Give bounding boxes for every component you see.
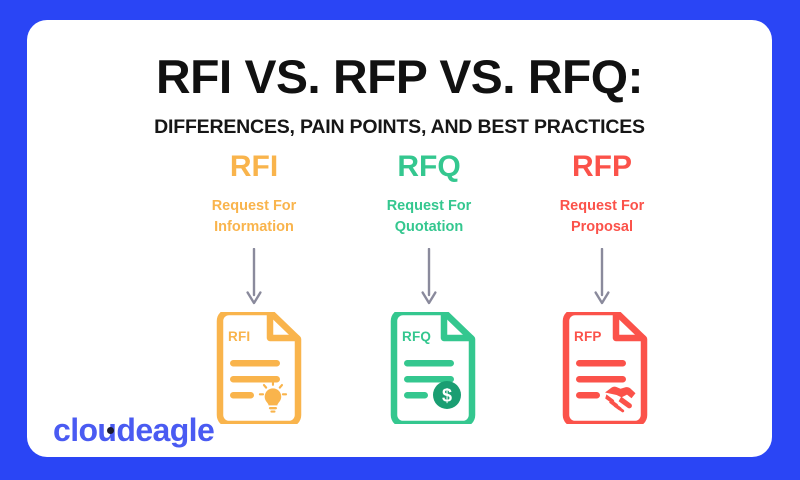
- svg-text:$: $: [442, 386, 452, 406]
- column-rfp-expansion-line1: Request For: [507, 196, 697, 217]
- column-rfq: RFQ Request For Quotation: [334, 152, 524, 237]
- white-content-card: RFI VS. RFP VS. RFQ: DIFFERENCES, PAIN P…: [27, 20, 772, 457]
- down-arrow-icon: [593, 248, 611, 306]
- column-rfq-expansion-line1: Request For: [334, 196, 524, 217]
- column-rfq-expansion-line2: Quotation: [334, 217, 524, 238]
- page-title: RFI VS. RFP VS. RFQ:: [27, 53, 772, 100]
- document-card-rfp: RFP: [557, 312, 653, 424]
- down-arrow-icon: [245, 248, 263, 306]
- cloudeagle-logo-text: cloudeagle: [53, 405, 214, 455]
- cloudeagle-logo[interactable]: cloudeagle: [53, 405, 253, 455]
- column-rfp-expansion-line2: Proposal: [507, 217, 697, 238]
- column-rfi-abbr: RFI: [159, 152, 349, 182]
- column-rfp-expansion: Request For Proposal: [507, 196, 697, 237]
- column-rfq-expansion: Request For Quotation: [334, 196, 524, 237]
- lightbulb-icon: [260, 381, 286, 412]
- column-rfi: RFI Request For Information: [159, 152, 349, 237]
- column-rfp: RFP Request For Proposal: [507, 152, 697, 237]
- column-rfi-expansion-line1: Request For: [159, 196, 349, 217]
- page-subtitle: DIFFERENCES, PAIN POINTS, AND BEST PRACT…: [27, 118, 772, 138]
- down-arrow-icon: [420, 248, 438, 306]
- eagle-eye-dot-icon: [107, 427, 114, 434]
- document-card-rfq: $ RFQ: [385, 312, 481, 424]
- dollar-coin-icon: $: [433, 381, 461, 409]
- column-rfi-expansion: Request For Information: [159, 196, 349, 237]
- handshake-icon: [605, 387, 636, 413]
- infographic-canvas: RFI VS. RFP VS. RFQ: DIFFERENCES, PAIN P…: [0, 0, 800, 480]
- column-rfi-expansion-line2: Information: [159, 217, 349, 238]
- column-rfp-abbr: RFP: [507, 152, 697, 182]
- column-rfq-abbr: RFQ: [334, 152, 524, 182]
